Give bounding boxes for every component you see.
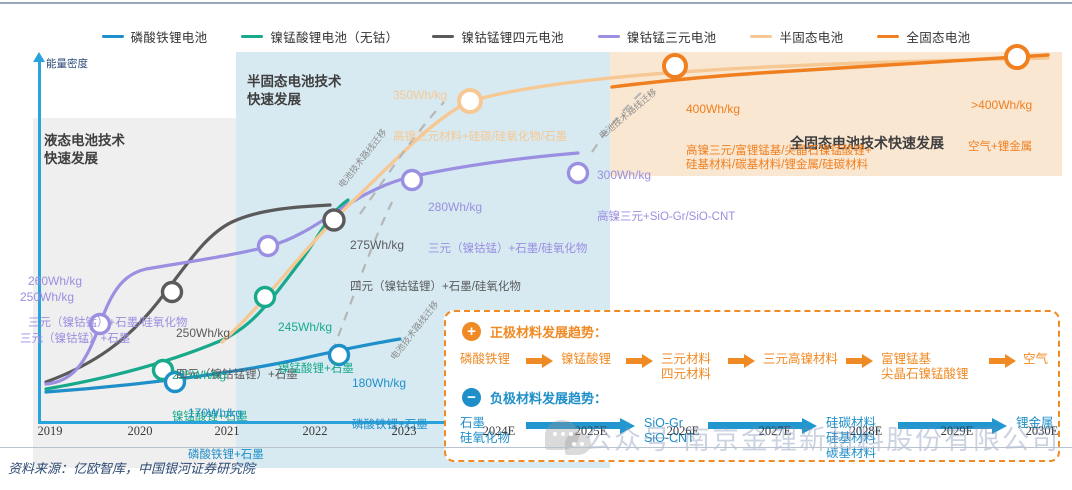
- annotation-desc: 空气+锂金属: [968, 140, 1032, 154]
- annotation-value: 260Wh/kg: [28, 274, 187, 288]
- annotation-400plus-allsolid: >400Wh/kg 空气+锂金属: [968, 70, 1032, 182]
- legend-item-4: 半固态电池: [750, 27, 843, 46]
- annotation-400-allsolid: 400Wh/kg 高镍三元/富锂锰基/尖晶石镍锰酸锂+ 硅基材料/碳基材料/锂金…: [686, 74, 872, 200]
- x-tick-5: 2024E: [483, 424, 516, 439]
- cathode-item-5: 空气: [1023, 352, 1048, 367]
- annotation-desc: 高镍三元/富锂锰基/尖晶石镍锰酸锂+ 硅基材料/碳基材料/锂金属/硅碳材料: [686, 144, 872, 172]
- plus-icon: +: [462, 322, 481, 341]
- legend-item-1: 镍锰酸锂电池（无钴）: [241, 27, 398, 46]
- annotation-350-semisolid: 350Wh/kg 高镍三元材料+硅碳/硅氧化物/石墨: [393, 60, 567, 172]
- legend-label: 镍钴锰锂四元电池: [461, 27, 563, 46]
- x-tick-10: 2029E: [941, 424, 974, 439]
- cathode-item-4: 富锂锰基 尖晶石镍锰酸锂: [881, 352, 969, 382]
- cathode-arrow-1: [626, 354, 654, 369]
- annotation-desc: 三元（镍钴锰）+石墨/硅氧化物: [28, 316, 187, 330]
- top-divider: [0, 2, 1072, 4]
- legend-item-0: 磷酸铁锂电池: [102, 27, 208, 46]
- annotation-value: 180Wh/kg: [352, 376, 428, 390]
- minus-icon: −: [462, 388, 481, 407]
- annotation-260-ncm: 260Wh/kg 三元（镍钴锰）+石墨/硅氧化物: [28, 246, 187, 358]
- annotation-desc: 高镍三元材料+硅碳/硅氧化物/石墨: [393, 130, 567, 144]
- cathode-title: 正极材料发展趋势：: [490, 322, 607, 341]
- x-tick-1: 2020: [128, 424, 153, 439]
- chart-root: 磷酸铁锂电池 镍锰酸锂电池（无钴） 镍钴锰锂四元电池 镍钴锰三元电池 半固态电池…: [0, 0, 1072, 484]
- legend-item-2: 镍钴锰锂四元电池: [432, 27, 563, 46]
- anode-title: 负极材料发展趋势：: [490, 388, 607, 407]
- annotation-value: 400Wh/kg: [686, 102, 872, 116]
- cathode-item-1: 镍锰酸锂: [561, 352, 611, 367]
- x-tick-11: 2030E: [1026, 424, 1059, 439]
- annotation-desc: 高镍三元+SiO-Gr/SiO-CNT: [597, 210, 735, 224]
- x-axis-ticks: 2019 2020 2021 2022 2023 2024E 2025E 202…: [0, 424, 1072, 446]
- legend-label: 全固态电池: [906, 27, 970, 46]
- legend-label: 半固态电池: [779, 27, 843, 46]
- annotation-value: 280Wh/kg: [428, 200, 587, 214]
- legend-swatch: [877, 35, 899, 38]
- anode-header: − 负极材料发展趋势：: [462, 388, 607, 407]
- x-tick-7: 2026E: [667, 424, 700, 439]
- annotation-280-ncm: 280Wh/kg 三元（镍钴锰）+石墨/硅氧化物: [428, 172, 587, 284]
- annotation-245-lnmo: 245Wh/kg 镍锰酸锂+石墨: [278, 292, 354, 404]
- cathode-arrow-0: [526, 354, 554, 369]
- legend-item-3: 镍钴锰三元电池: [598, 27, 717, 46]
- legend-swatch: [241, 35, 263, 38]
- annotation-value: 170Wh/kg: [188, 406, 264, 420]
- legend-swatch: [102, 35, 124, 38]
- cathode-arrow-3: [846, 354, 874, 369]
- chart-legend: 磷酸铁锂电池 镍锰酸锂电池（无钴） 镍钴锰锂四元电池 镍钴锰三元电池 半固态电池…: [0, 24, 1072, 48]
- annotation-desc: 三元（镍钴锰）+石墨/硅氧化物: [428, 242, 587, 256]
- cathode-arrow-2: [728, 354, 756, 369]
- cathode-item-2: 三元材料 四元材料: [661, 352, 711, 382]
- source-note: 资料来源：亿欧智库，中国银河证券研究院: [8, 458, 255, 477]
- cathode-header: + 正极材料发展趋势：: [462, 322, 607, 341]
- x-tick-8: 2027E: [759, 424, 792, 439]
- cathode-item-0: 磷酸铁锂: [460, 352, 510, 367]
- legend-swatch: [598, 35, 620, 38]
- annotation-value: 245Wh/kg: [278, 320, 354, 334]
- x-tick-9: 2028E: [850, 424, 883, 439]
- legend-label: 磷酸铁锂电池: [131, 27, 208, 46]
- annotation-value: 350Wh/kg: [393, 88, 567, 102]
- x-tick-3: 2022: [303, 424, 328, 439]
- plot-area: 液态电池技术 快速发展 半固态电池技术 快速发展 全固态电池技术快速发展 能量密…: [0, 52, 1072, 432]
- x-tick-6: 2025E: [575, 424, 608, 439]
- cathode-arrow-4: [989, 354, 1017, 369]
- x-tick-0: 2019: [38, 424, 63, 439]
- bottom-divider: [0, 447, 1072, 448]
- legend-label: 镍锰酸锂电池（无钴）: [270, 27, 398, 46]
- legend-swatch: [750, 35, 772, 38]
- cathode-item-3: 三元高镍材料: [763, 352, 838, 367]
- x-tick-2: 2021: [215, 424, 240, 439]
- annotation-desc: 镍锰酸锂+石墨: [278, 362, 354, 376]
- legend-label: 镍钴锰三元电池: [627, 27, 717, 46]
- x-tick-4: 2023: [392, 424, 417, 439]
- annotation-value: >400Wh/kg: [968, 98, 1032, 112]
- legend-swatch: [432, 35, 454, 38]
- legend-item-5: 全固态电池: [877, 27, 970, 46]
